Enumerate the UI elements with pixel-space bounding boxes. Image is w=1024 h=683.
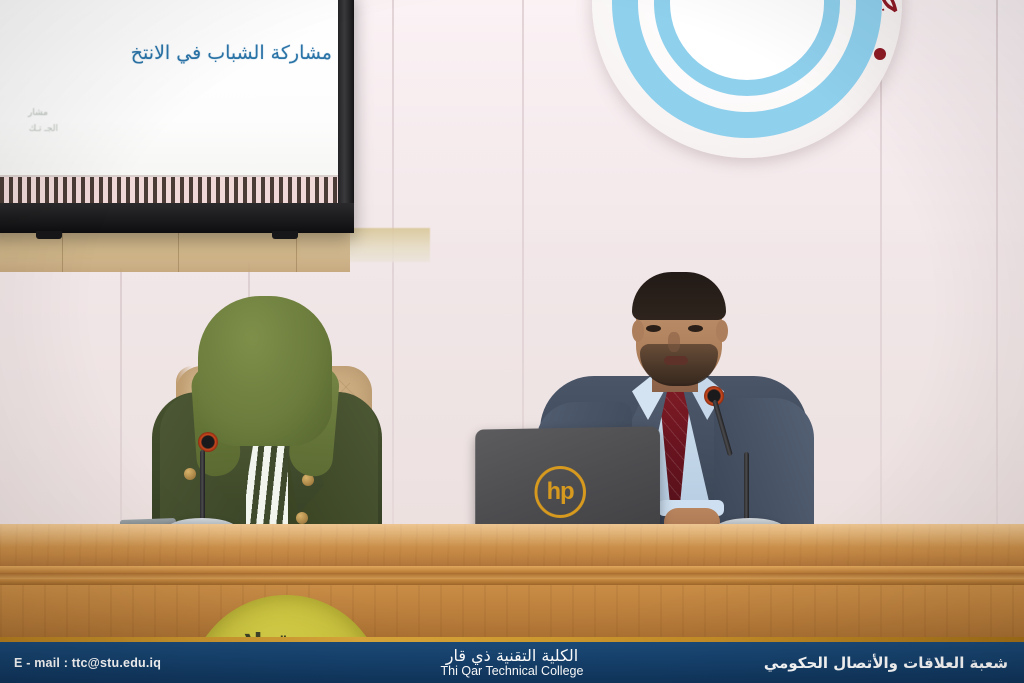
man-nose bbox=[668, 332, 680, 352]
wall-seam bbox=[120, 268, 122, 558]
screen-right-bezel bbox=[338, 0, 354, 233]
microphone-stem bbox=[200, 450, 205, 526]
hp-logo-icon: hp bbox=[535, 466, 586, 518]
desk-molding-1 bbox=[0, 566, 1024, 573]
college-logo: جامعة bbox=[592, 0, 902, 158]
screen-foot bbox=[272, 231, 298, 239]
slide-subtitle-line-2: الجـ تـك bbox=[0, 124, 58, 134]
microphone-head-icon bbox=[198, 432, 218, 452]
slide-subtitle-line-1: مشار bbox=[0, 108, 48, 118]
hp-logo-text: hp bbox=[547, 480, 574, 504]
logo-glare bbox=[742, 34, 798, 56]
woman-jacket-button bbox=[296, 512, 308, 524]
man-mouth bbox=[664, 356, 688, 365]
logo-dot bbox=[874, 48, 886, 60]
desk-gloss bbox=[0, 524, 1024, 566]
wall-seam bbox=[996, 0, 998, 560]
footer-bar: E - mail : ttc@stu.edu.iq الكلية التقنية… bbox=[0, 642, 1024, 683]
microphone-stem-lower bbox=[744, 452, 749, 524]
speaker-grille bbox=[0, 175, 338, 205]
screen-surface: مشاركة الشباب في الانتخ مشار الجـ تـك bbox=[0, 0, 338, 175]
woman-hijab bbox=[198, 296, 332, 446]
woman-jacket-button bbox=[184, 468, 196, 480]
man-eye-right bbox=[688, 325, 703, 332]
cabinet-seam bbox=[62, 232, 63, 272]
man-ear-left bbox=[632, 320, 644, 342]
footer-college-name-english: Thi Qar Technical College bbox=[441, 665, 584, 679]
desk-wood-grain bbox=[0, 585, 1024, 642]
conference-desk bbox=[0, 524, 1024, 642]
cabinet-seam bbox=[178, 232, 179, 272]
slide-title: مشاركة الشباب في الانتخ bbox=[2, 42, 332, 64]
man-eye-left bbox=[646, 325, 661, 332]
screen-bottom-bezel bbox=[0, 203, 354, 233]
footer-department-arabic: شعبة العلاقات والأتصال الحكومي bbox=[764, 654, 1008, 672]
screen-foot bbox=[36, 231, 62, 239]
footer-email[interactable]: E - mail : ttc@stu.edu.iq bbox=[14, 656, 161, 670]
person-woman-speaker bbox=[152, 296, 382, 546]
man-hair bbox=[632, 272, 726, 320]
footer-college-name-arabic: الكلية التقنية ذي قار bbox=[441, 646, 584, 664]
wall-seam bbox=[392, 0, 394, 560]
screenshot-canvas: جامعة مشاركة الشباب في الانتخ مشار الجـ … bbox=[0, 0, 1024, 683]
footer-college-name: الكلية التقنية ذي قار Thi Qar Technical … bbox=[441, 646, 584, 678]
presentation-screen: مشاركة الشباب في الانتخ مشار الجـ تـك bbox=[0, 0, 354, 233]
man-ear-right bbox=[716, 320, 728, 342]
